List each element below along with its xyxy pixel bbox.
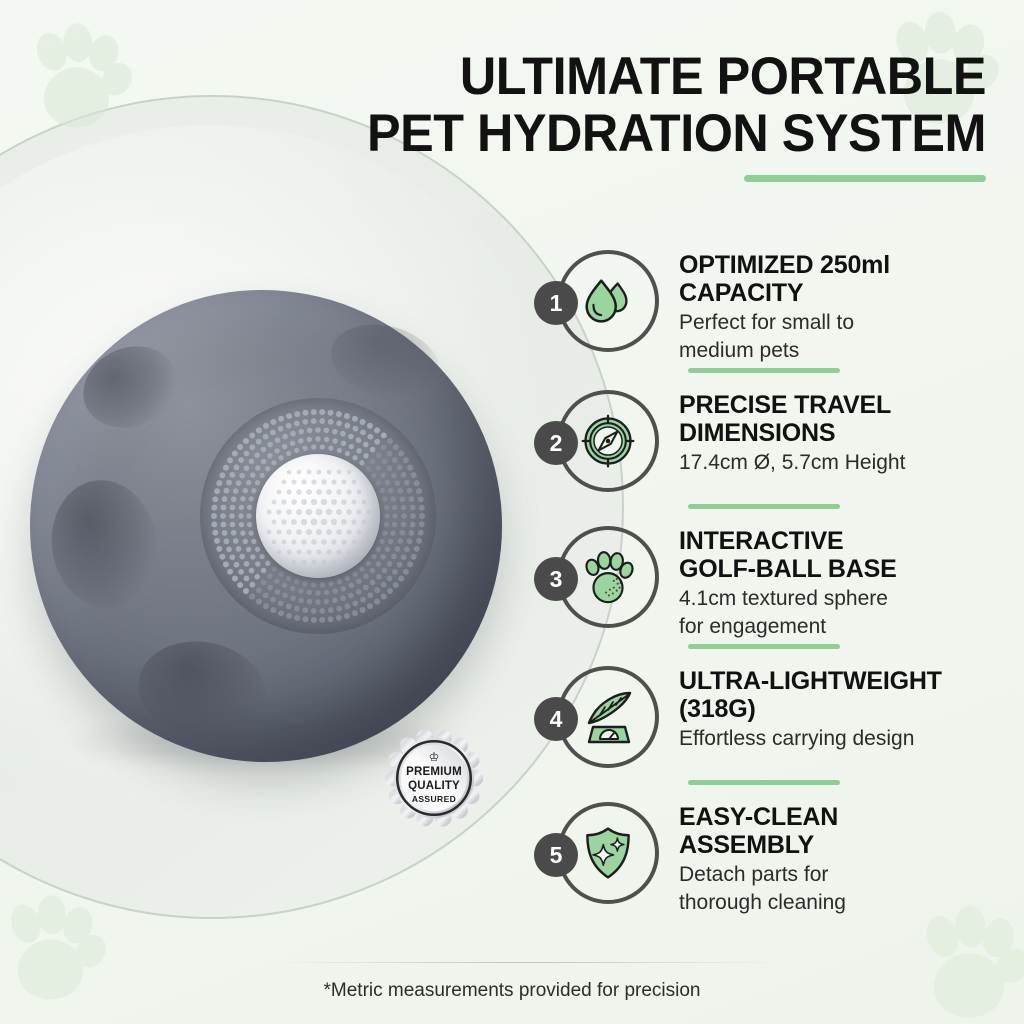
- feature-title-line-2: GOLF-BALL BASE: [679, 555, 1007, 583]
- feature-icon-slot: 4: [527, 659, 679, 775]
- feature-title-line-1: EASY-CLEAN: [679, 803, 1007, 831]
- feature-text: INTERACTIVE GOLF-BALL BASE 4.1cm texture…: [679, 519, 1007, 639]
- product-dimple: [44, 473, 165, 614]
- feature-item-3: 3: [527, 509, 1007, 649]
- feature-sub-line-1: 17.4cm Ø, 5.7cm Height: [679, 450, 1007, 475]
- feature-title-line-2: (318G): [679, 695, 1007, 723]
- feature-text: EASY-CLEAN ASSEMBLY Detach parts for tho…: [679, 795, 1007, 915]
- feature-text: OPTIMIZED 250ml CAPACITY Perfect for sma…: [679, 243, 1007, 363]
- feature-item-4: 4 ULTRA-LIGHTWEIGHT (318G) Effortless ca…: [527, 649, 1007, 785]
- feature-sub-line-1: Effortless carrying design: [679, 726, 1007, 751]
- feature-item-5: 5 EASY-CLEAN ASSEMBLY Detach parts for t…: [527, 785, 1007, 925]
- golf-ball-dimple-texture: [256, 454, 380, 578]
- feature-icon-slot: 2: [527, 383, 679, 499]
- footer-note: *Metric measurements provided for precis…: [0, 980, 1024, 1002]
- feature-sub-line-2: for engagement: [679, 614, 1007, 639]
- product-dimple: [131, 632, 274, 749]
- feature-text: ULTRA-LIGHTWEIGHT (318G) Effortless carr…: [679, 659, 1007, 751]
- page-title: ULTIMATE PORTABLE PET HYDRATION SYSTEM: [280, 48, 986, 182]
- paw-print-icon: [577, 546, 639, 608]
- product-dimple: [323, 314, 447, 409]
- feature-sub-line-1: Detach parts for: [679, 862, 1007, 887]
- feature-number-badge: 5: [534, 833, 578, 877]
- feature-icon-slot: 3: [527, 519, 679, 635]
- feather-scale-icon: [576, 685, 640, 749]
- feature-list: 1 OPTIMIZED 250ml CAPACITY Perfect for s…: [527, 243, 1007, 925]
- feature-icon-slot: 1: [527, 243, 679, 359]
- badge-seal-shape: [385, 729, 483, 827]
- compass-icon: [578, 411, 638, 471]
- title-line-1: ULTIMATE PORTABLE: [315, 48, 986, 105]
- product-dome-body: [30, 290, 502, 762]
- feature-number-badge: 1: [534, 281, 578, 325]
- feature-sub-line-2: medium pets: [679, 338, 1007, 363]
- feature-number-badge: 3: [534, 557, 578, 601]
- paw-print-watermark-top-left: [18, 18, 148, 148]
- title-line-2: PET HYDRATION SYSTEM: [315, 105, 986, 162]
- product-dimple: [70, 332, 189, 442]
- product-image: [18, 280, 518, 800]
- premium-quality-badge: ♔ PREMIUM QUALITY ASSURED: [385, 729, 483, 827]
- feature-item-1: 1 OPTIMIZED 250ml CAPACITY Perfect for s…: [527, 243, 1007, 373]
- feature-title-line-1: PRECISE TRAVEL: [679, 391, 1007, 419]
- infographic-page: ULTIMATE PORTABLE PET HYDRATION SYSTEM: [0, 0, 1024, 1024]
- feature-title-line-1: INTERACTIVE: [679, 527, 1007, 555]
- feature-sub-line-1: Perfect for small to: [679, 310, 1007, 335]
- feature-sub-line-2: thorough cleaning: [679, 890, 1007, 915]
- feature-title-line-2: CAPACITY: [679, 279, 1007, 307]
- feature-icon-slot: 5: [527, 795, 679, 911]
- feature-text: PRECISE TRAVEL DIMENSIONS 17.4cm Ø, 5.7c…: [679, 383, 1007, 475]
- shield-sparkle-icon: [578, 823, 638, 883]
- feature-title-line-2: DIMENSIONS: [679, 419, 1007, 447]
- footer-divider: [268, 962, 784, 963]
- feature-title-line-2: ASSEMBLY: [679, 831, 1007, 859]
- title-underline: [744, 175, 986, 182]
- golf-ball-center: [256, 454, 380, 578]
- feature-title-line-1: OPTIMIZED 250ml: [679, 251, 1007, 279]
- water-droplet-icon: [577, 270, 639, 332]
- feature-sub-line-1: 4.1cm textured sphere: [679, 586, 1007, 611]
- feature-title-line-1: ULTRA-LIGHTWEIGHT: [679, 667, 1007, 695]
- feature-number-badge: 2: [534, 421, 578, 465]
- feature-item-2: 2: [527, 373, 1007, 509]
- feature-number-badge: 4: [534, 697, 578, 741]
